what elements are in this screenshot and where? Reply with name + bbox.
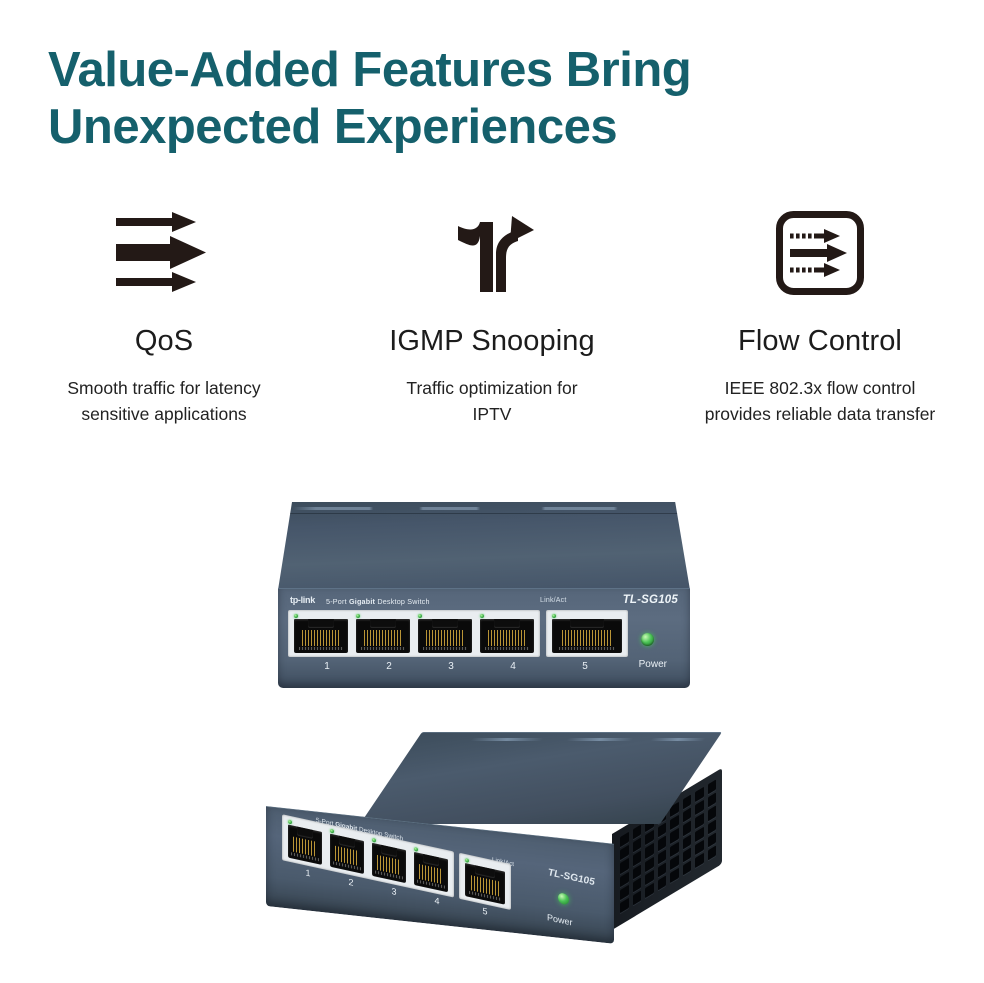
brand-logo: tp-link — [290, 595, 315, 605]
ethernet-port[interactable] — [369, 835, 409, 886]
model-suffix: Desktop Switch — [375, 597, 430, 606]
power-label: Power — [639, 659, 667, 670]
port-number-label: 5 — [482, 906, 487, 917]
port-group-5 — [546, 610, 628, 657]
ethernet-port[interactable] — [477, 612, 537, 655]
port-number-label: 2 — [348, 877, 353, 888]
rj45-pins — [302, 630, 341, 646]
port-led-icon — [414, 846, 418, 851]
rj45-jack — [480, 619, 534, 653]
port-led-icon — [418, 614, 422, 618]
feature-list: QoS Smooth traffic for latency sensitive… — [0, 205, 984, 428]
three-arrows-icon — [8, 205, 320, 301]
port-led-icon — [372, 837, 376, 842]
port-led-icon — [356, 614, 360, 618]
rj45-pins — [426, 630, 465, 646]
page-title-line-1: Value-Added Features Bring — [48, 42, 928, 99]
port-number-label: 1 — [324, 661, 330, 672]
power-led-icon — [641, 633, 654, 646]
product-model-text: 5-Port Gigabit Desktop Switch — [326, 597, 430, 606]
feature-item-qos: QoS Smooth traffic for latency sensitive… — [0, 205, 328, 428]
product-sku-label: TL-SG105 — [548, 867, 595, 888]
feature-title-qos: QoS — [8, 325, 320, 358]
ethernet-port-row — [288, 610, 628, 657]
rj45-jack — [465, 863, 505, 905]
ethernet-port[interactable] — [462, 855, 508, 907]
port-led-icon — [330, 828, 334, 833]
rj45-jack — [552, 619, 622, 653]
rj45-jack — [294, 619, 348, 653]
rj45-pins — [562, 630, 612, 646]
port-group-1-4 — [288, 610, 540, 657]
model-prefix: 5-Port — [326, 597, 349, 606]
chassis-top-panel-angled — [360, 732, 722, 824]
port-number-label: 3 — [448, 661, 454, 672]
page-title: Value-Added Features Bring Unexpected Ex… — [48, 42, 928, 156]
port-led-icon — [480, 614, 484, 618]
port-number-row: 1 2 3 4 5 — [288, 661, 628, 677]
ethernet-port[interactable] — [353, 612, 413, 655]
port-number-label: 1 — [305, 867, 310, 878]
rj45-lip — [299, 647, 342, 650]
product-image-stage: tp-link 5-Port Gigabit Desktop Switch Li… — [0, 480, 984, 980]
port-led-icon — [288, 819, 292, 824]
port-led-icon — [465, 858, 469, 863]
feature-desc-qos: Smooth traffic for latency sensitive app… — [14, 376, 314, 428]
rj45-jack — [418, 619, 472, 653]
ethernet-port[interactable] — [291, 612, 351, 655]
feature-desc-line-2: sensitive applications — [14, 402, 314, 428]
feature-desc-line-1: Smooth traffic for latency — [14, 376, 314, 402]
port-number-label: 2 — [386, 661, 392, 672]
port-led-icon — [294, 614, 298, 618]
feature-desc-flow-control: IEEE 802.3x flow control provides reliab… — [670, 376, 970, 428]
port-led-icon — [552, 614, 556, 618]
model-bold: Gigabit — [349, 597, 375, 606]
chassis-front-panel-angled: tp-link 5-Port Gigabit Desktop Switch Li… — [266, 806, 614, 944]
link-act-label: Link/Act — [540, 597, 567, 604]
port-number-label: 4 — [434, 895, 439, 906]
ethernet-port[interactable] — [411, 844, 451, 895]
rj45-jack — [356, 619, 410, 653]
flow-control-box-icon — [664, 205, 976, 301]
rj45-lip — [423, 647, 466, 650]
port-number-label: 5 — [582, 661, 588, 672]
ethernet-port[interactable] — [549, 612, 625, 655]
product-front-view: tp-link 5-Port Gigabit Desktop Switch Li… — [278, 502, 690, 692]
ethernet-port[interactable] — [415, 612, 475, 655]
feature-desc-igmp-snooping: Traffic optimization for IPTV — [342, 376, 642, 428]
feature-desc-line-2: IPTV — [342, 402, 642, 428]
chassis-top-panel — [278, 502, 690, 590]
chassis-front-panel: tp-link 5-Port Gigabit Desktop Switch Li… — [278, 588, 690, 688]
rj45-jack — [330, 834, 364, 874]
product-angled-view: tp-link 5-Port Gigabit Desktop Switch Li… — [252, 730, 722, 940]
feature-desc-line-1: IEEE 802.3x flow control — [670, 376, 970, 402]
port-number-label: 4 — [510, 661, 516, 672]
feature-title-igmp-snooping: IGMP Snooping — [336, 325, 648, 358]
rj45-pins — [488, 630, 527, 646]
product-sku-label: TL-SG105 — [623, 594, 678, 606]
ethernet-port[interactable] — [327, 826, 367, 877]
port-number-label: 3 — [391, 886, 396, 897]
feature-desc-line-2: provides reliable data transfer — [670, 402, 970, 428]
feature-title-flow-control: Flow Control — [664, 325, 976, 358]
rj45-pins — [364, 630, 403, 646]
rj45-jack — [414, 852, 448, 892]
page-title-line-2: Unexpected Experiences — [48, 99, 928, 156]
branching-arrow-icon — [336, 205, 648, 301]
front-panel-labels: tp-link 5-Port Gigabit Desktop Switch Li… — [278, 594, 690, 608]
rj45-jack — [372, 843, 406, 883]
rj45-lip — [361, 647, 404, 650]
rj45-jack — [288, 825, 322, 865]
feature-item-flow-control: Flow Control IEEE 802.3x flow control pr… — [656, 205, 984, 428]
feature-item-igmp-snooping: IGMP Snooping Traffic optimization for I… — [328, 205, 656, 428]
ethernet-port[interactable] — [285, 817, 325, 868]
rj45-lip — [485, 647, 528, 650]
rj45-lip — [559, 647, 615, 650]
feature-desc-line-1: Traffic optimization for — [342, 376, 642, 402]
